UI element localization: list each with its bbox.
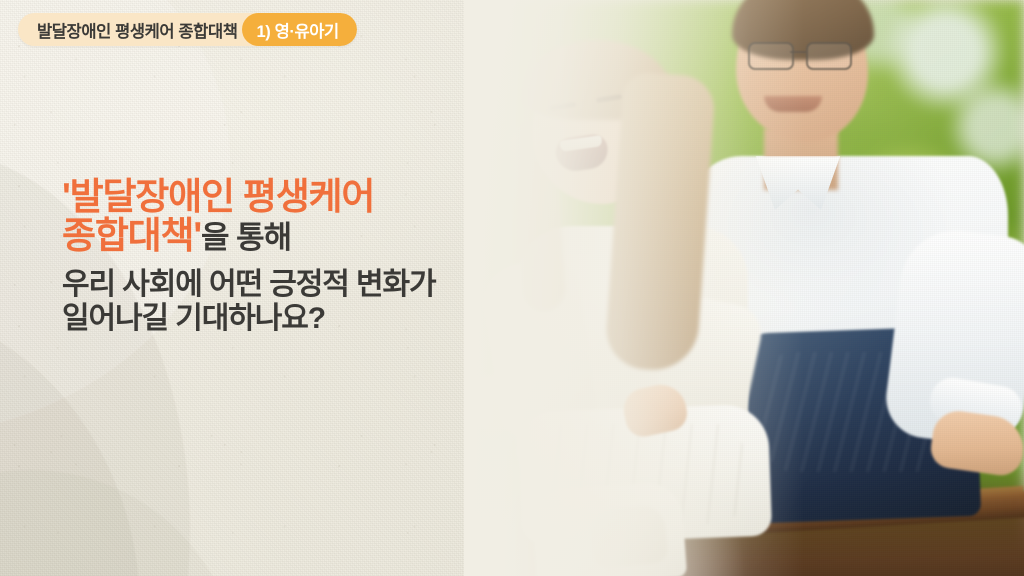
girl-shoe (587, 504, 669, 570)
slide-canvas: 발달장애인 평생케어 종합대책 1) 영·유아기 '발달장애인 평생케어 종합대… (0, 0, 1024, 576)
headline-question-line-2: 일어나길 기대하나요? (62, 302, 325, 335)
headline-accent-part-2: 종합대책' (62, 215, 201, 256)
glasses-bridge (790, 51, 806, 53)
man-glasses-icon (748, 42, 860, 66)
headline-line-4: 일어나길 기대하나요? (62, 304, 582, 334)
headline-line-2: 종합대책'을 통해 (62, 217, 582, 254)
man-smile (764, 96, 822, 112)
badge-title-label: 발달장애인 평생케어 종합대책 (18, 13, 258, 46)
headline-question-line-1: 우리 사회에 어떤 긍정적 변화가 (62, 268, 435, 301)
header-badge: 발달장애인 평생케어 종합대책 1) 영·유아기 (18, 13, 357, 46)
headline-line-1: '발달장애인 평생케어 (62, 178, 582, 215)
headline-block: '발달장애인 평생케어 종합대책'을 통해 우리 사회에 어떤 긍정적 변화가 … (62, 178, 582, 334)
glasses-lens-right (806, 42, 852, 70)
headline-line-3: 우리 사회에 어떤 긍정적 변화가 (62, 270, 582, 300)
glasses-lens-left (748, 42, 794, 70)
headline-accent-part-1: '발달장애인 평생케어 (62, 176, 374, 217)
badge-section-label: 1) 영·유아기 (242, 13, 357, 46)
headline-plain-suffix: 을 통해 (201, 220, 291, 255)
